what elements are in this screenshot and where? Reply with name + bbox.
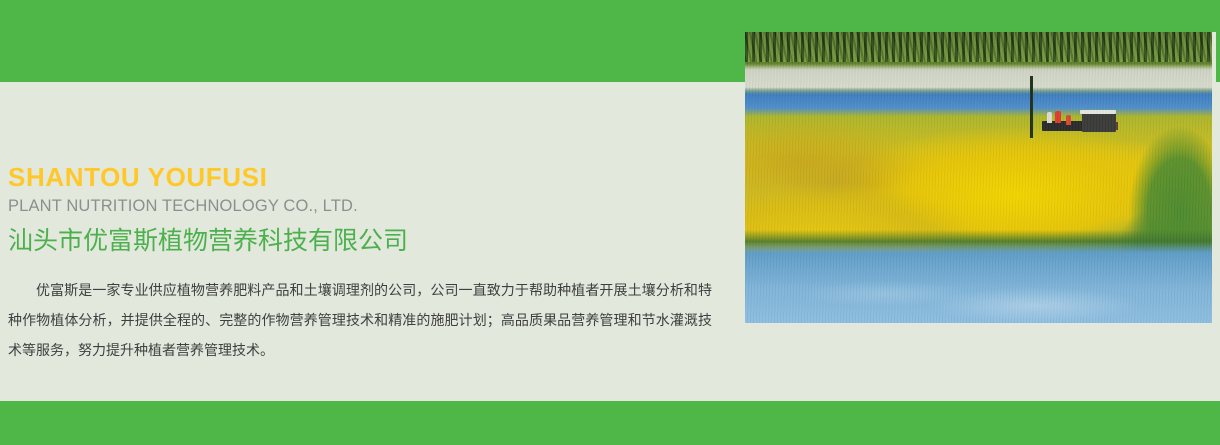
hero-photo-image bbox=[745, 32, 1212, 323]
company-tagline-en: PLANT NUTRITION TECHNOLOGY CO., LTD. bbox=[8, 196, 728, 217]
company-intro-paragraph: 优富斯是一家专业供应植物营养肥料产品和土壤调理剂的公司，公司一直致力于帮助种植者… bbox=[8, 275, 712, 365]
photo-right-edge-gap bbox=[1212, 32, 1216, 323]
company-name-cn: 汕头市优富斯植物营养科技有限公司 bbox=[8, 225, 728, 258]
page-root: SHANTOU YOUFUSI PLANT NUTRITION TECHNOLO… bbox=[0, 0, 1220, 445]
brand-block: SHANTOU YOUFUSI PLANT NUTRITION TECHNOLO… bbox=[8, 162, 728, 258]
company-name-en: SHANTOU YOUFUSI bbox=[8, 162, 728, 193]
footer-green-band bbox=[0, 401, 1220, 445]
hero-photo bbox=[745, 32, 1212, 323]
